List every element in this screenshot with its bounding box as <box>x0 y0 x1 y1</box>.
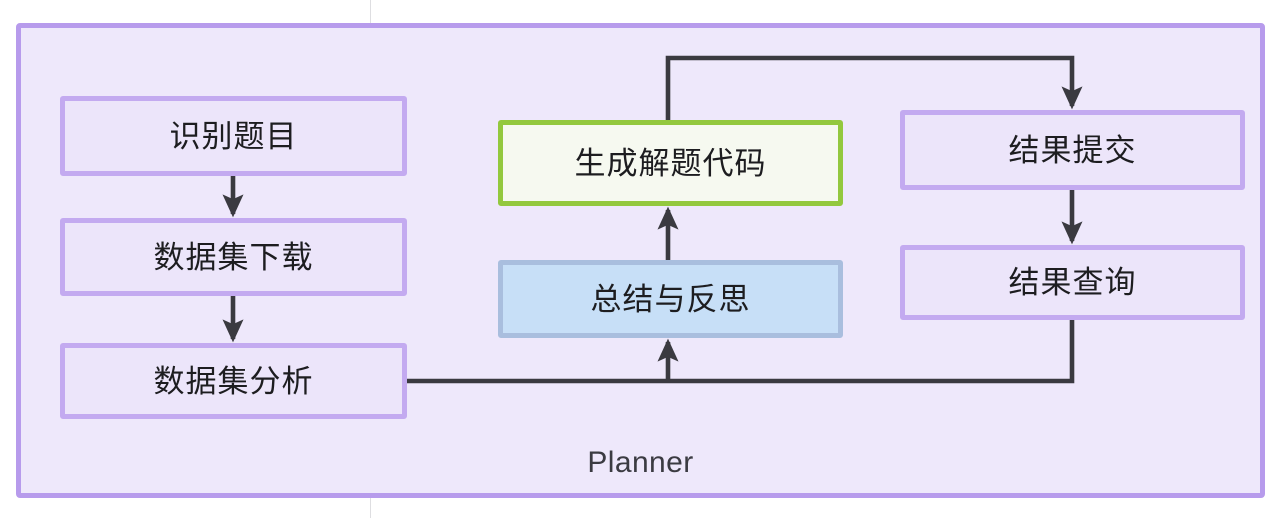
diagram-canvas: Planner 识别题目 <box>0 0 1280 518</box>
node-identify-problem-label: 识别题目 <box>170 121 298 152</box>
node-dataset-download-label: 数据集下载 <box>154 242 314 273</box>
node-query-result-label: 结果查询 <box>1009 267 1137 298</box>
node-summary-reflect-label: 总结与反思 <box>591 284 751 315</box>
node-query-result[interactable]: 结果查询 <box>900 245 1245 320</box>
node-submit-result-label: 结果提交 <box>1009 135 1137 166</box>
node-generate-code[interactable]: 生成解题代码 <box>498 120 843 206</box>
node-dataset-analysis[interactable]: 数据集分析 <box>60 343 407 419</box>
node-generate-code-label: 生成解题代码 <box>575 148 767 179</box>
canvas-guide-mark-bottom <box>370 498 371 518</box>
node-submit-result[interactable]: 结果提交 <box>900 110 1245 190</box>
planner-group-label: Planner <box>21 446 1260 480</box>
canvas-guide-mark-top <box>370 0 371 23</box>
node-summary-reflect[interactable]: 总结与反思 <box>498 260 843 338</box>
node-dataset-analysis-label: 数据集分析 <box>154 366 314 397</box>
node-identify-problem[interactable]: 识别题目 <box>60 96 407 176</box>
node-dataset-download[interactable]: 数据集下载 <box>60 218 407 296</box>
